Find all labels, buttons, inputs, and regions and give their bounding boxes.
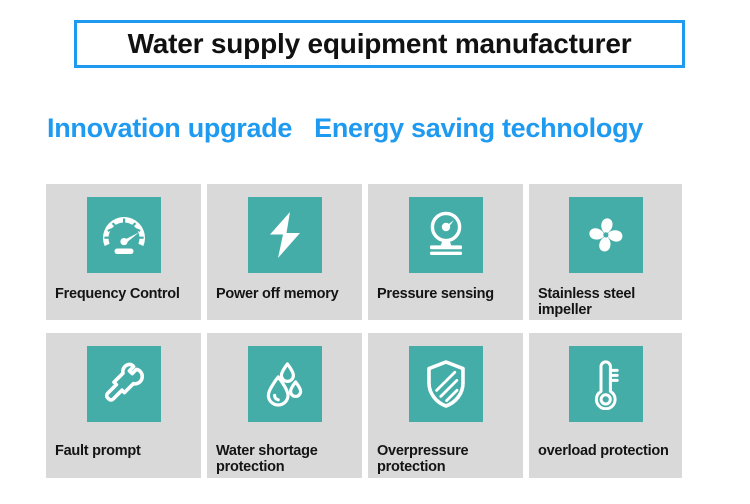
icon-tile — [248, 197, 322, 273]
page-title-box: Water supply equipment manufacturer — [74, 20, 685, 68]
feature-row-2: Fault prompt Water shortage protection — [46, 333, 682, 478]
feature-card-pressure-sensing[interactable]: Pressure sensing — [368, 184, 523, 320]
subtitle-innovation: Innovation upgrade — [47, 113, 292, 144]
feature-card-stainless-steel-impeller[interactable]: Stainless steel impeller — [529, 184, 682, 320]
subtitle-row: Innovation upgrade Energy saving technol… — [47, 108, 707, 148]
feature-label: Overpressure protection — [377, 443, 468, 475]
feature-card-power-off-memory[interactable]: Power off memory — [207, 184, 362, 320]
subtitle-energy-saving: Energy saving technology — [314, 113, 643, 144]
icon-tile — [409, 346, 483, 422]
feature-card-fault-prompt[interactable]: Fault prompt — [46, 333, 201, 478]
feature-grid: Frequency Control Power off memory — [46, 184, 682, 478]
icon-tile — [87, 197, 161, 273]
icon-tile — [569, 197, 643, 273]
page-title: Water supply equipment manufacturer — [128, 28, 632, 60]
icon-tile — [87, 346, 161, 422]
feature-card-water-shortage-protection[interactable]: Water shortage protection — [207, 333, 362, 478]
feature-label: Water shortage protection — [216, 443, 318, 475]
feature-card-frequency-control[interactable]: Frequency Control — [46, 184, 201, 320]
feature-card-overpressure-protection[interactable]: Overpressure protection — [368, 333, 523, 478]
thermometer-icon — [587, 358, 625, 410]
impeller-fan-icon — [583, 212, 629, 258]
wrench-icon — [100, 360, 148, 408]
pressure-gauge-icon — [421, 211, 471, 259]
shield-icon — [423, 359, 469, 409]
feature-label: Frequency Control — [55, 286, 180, 302]
icon-tile — [409, 197, 483, 273]
lightning-bolt-icon — [265, 210, 305, 260]
feature-label: Fault prompt — [55, 443, 141, 459]
feature-label: overload protection — [538, 443, 669, 459]
icon-tile — [569, 346, 643, 422]
speedometer-gauge-icon — [98, 212, 150, 258]
feature-row-1: Frequency Control Power off memory — [46, 184, 682, 320]
feature-card-overload-protection[interactable]: overload protection — [529, 333, 682, 478]
feature-label: Pressure sensing — [377, 286, 494, 302]
water-droplets-icon — [261, 360, 309, 408]
icon-tile — [248, 346, 322, 422]
feature-label: Power off memory — [216, 286, 339, 302]
feature-label: Stainless steel impeller — [538, 286, 682, 318]
